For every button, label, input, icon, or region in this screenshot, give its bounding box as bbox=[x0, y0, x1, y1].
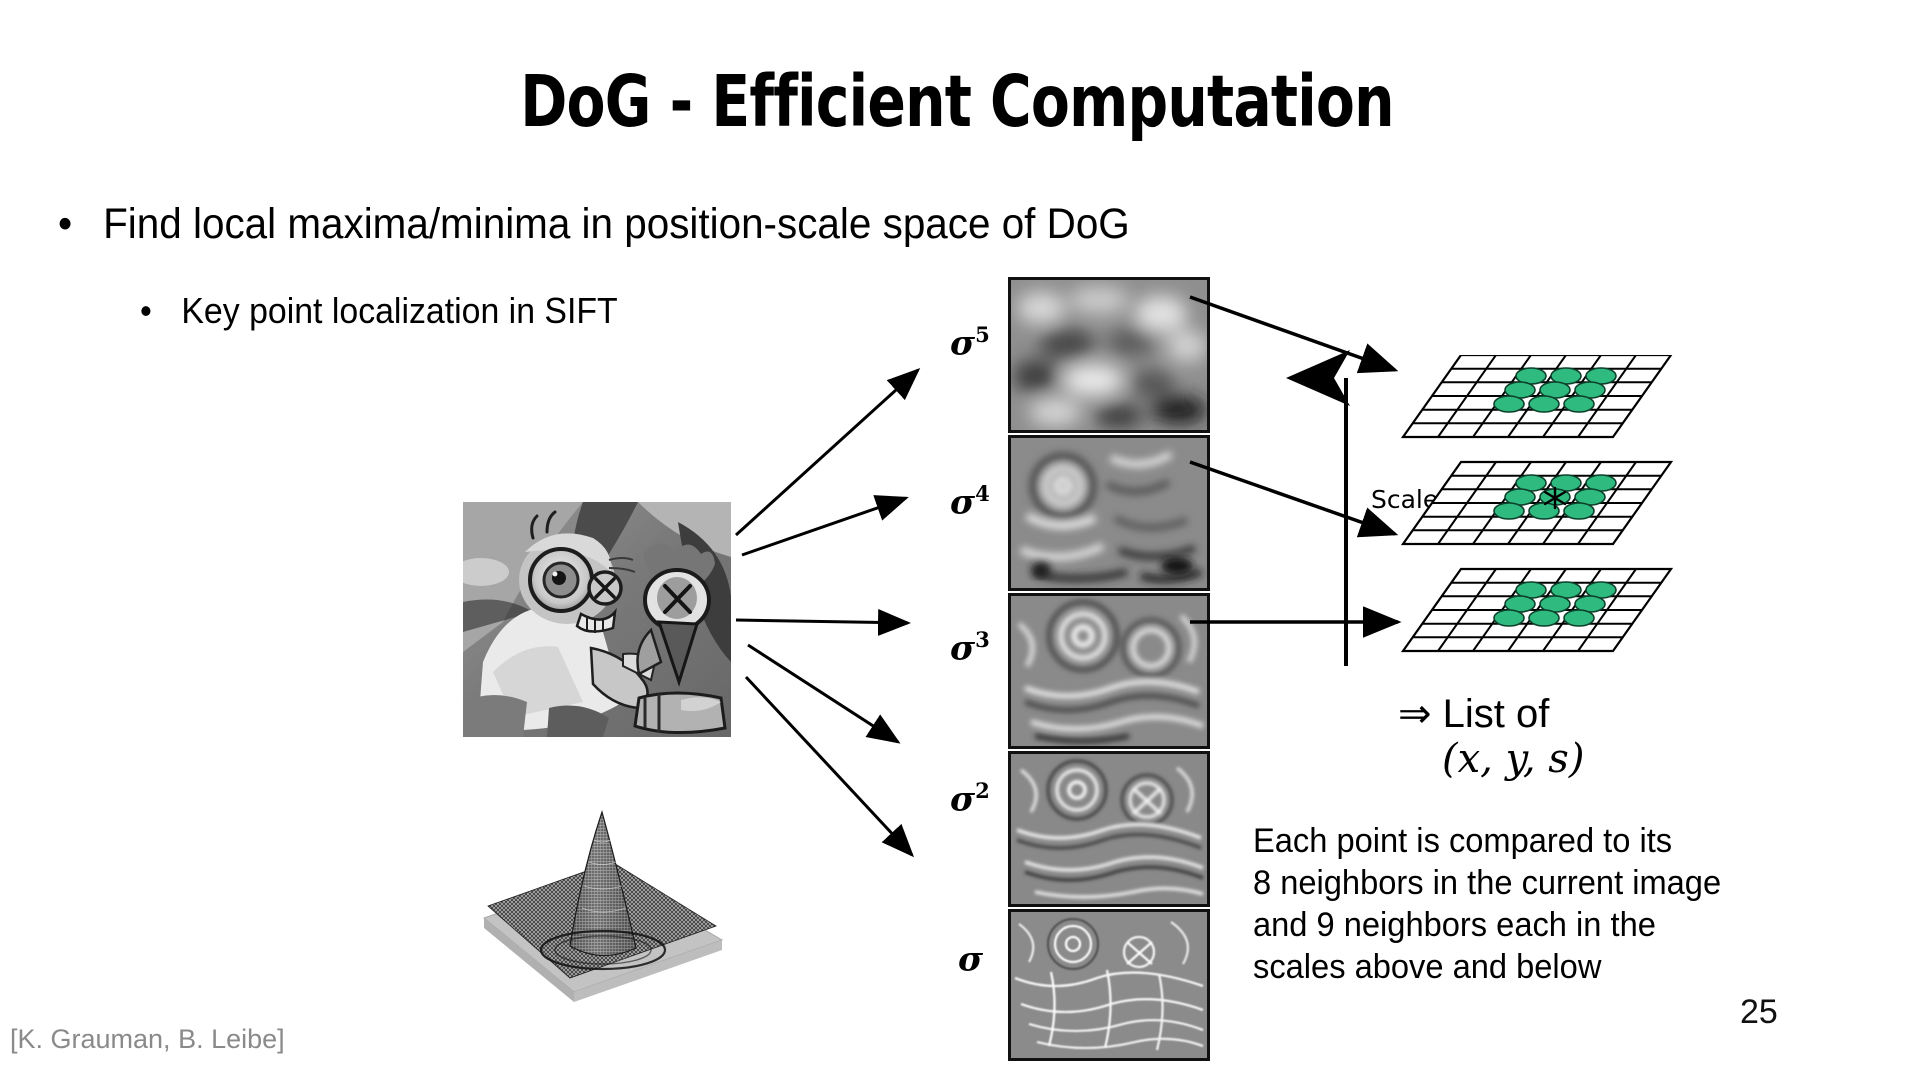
bullet-text-primary: Find local maxima/minima in position-sca… bbox=[103, 200, 1130, 248]
source-image-graffiti bbox=[463, 502, 731, 737]
list-of-text: ⇒ List of bbox=[1398, 692, 1549, 736]
sigma-label-2: σ2 bbox=[950, 778, 990, 819]
dog-tile-sigma2 bbox=[1008, 751, 1210, 907]
neighborhood-plane-current bbox=[1403, 462, 1671, 544]
neighborhood-plane-below bbox=[1403, 569, 1671, 651]
list-tuple-text: (x, y, s) bbox=[1398, 737, 1584, 782]
slide-canvas: DoG - Efficient Computation •Find local … bbox=[0, 0, 1914, 1076]
dog-tile-sigma1 bbox=[1008, 909, 1210, 1061]
page-title: DoG - Efficient Computation bbox=[191, 60, 1722, 143]
sigma-label-3: σ3 bbox=[950, 627, 990, 668]
neighborhood-explanation: Each point is compared to its 8 neighbor… bbox=[1253, 820, 1721, 989]
explanation-line-3: and 9 neighbors each in the bbox=[1253, 904, 1721, 946]
output-list-label: ⇒ List of (x, y, s) bbox=[1398, 692, 1584, 782]
scale-space-neighborhood-planes bbox=[1395, 355, 1685, 655]
bullet-marker: • bbox=[140, 290, 181, 331]
page-number: 25 bbox=[1740, 993, 1778, 1032]
bullet-marker: • bbox=[58, 200, 103, 249]
explanation-line-1: Each point is compared to its bbox=[1253, 820, 1721, 862]
source-credit: [K. Grauman, B. Leibe] bbox=[10, 1024, 285, 1055]
sigma-label-4: σ4 bbox=[950, 481, 990, 522]
bullet-text-secondary: Key point localization in SIFT bbox=[181, 290, 617, 331]
sigma-label-5: σ5 bbox=[950, 322, 990, 363]
neighborhood-plane-above bbox=[1403, 355, 1671, 437]
explanation-line-2: 8 neighbors in the current image bbox=[1253, 862, 1721, 904]
bullet-item-primary: •Find local maxima/minima in position-sc… bbox=[58, 200, 1130, 249]
bullet-item-secondary: •Key point localization in SIFT bbox=[140, 290, 618, 331]
explanation-line-4: scales above and below bbox=[1253, 946, 1721, 988]
sigma-label-1: σ bbox=[958, 938, 983, 979]
gaussian-surface-plot bbox=[470, 800, 730, 1015]
